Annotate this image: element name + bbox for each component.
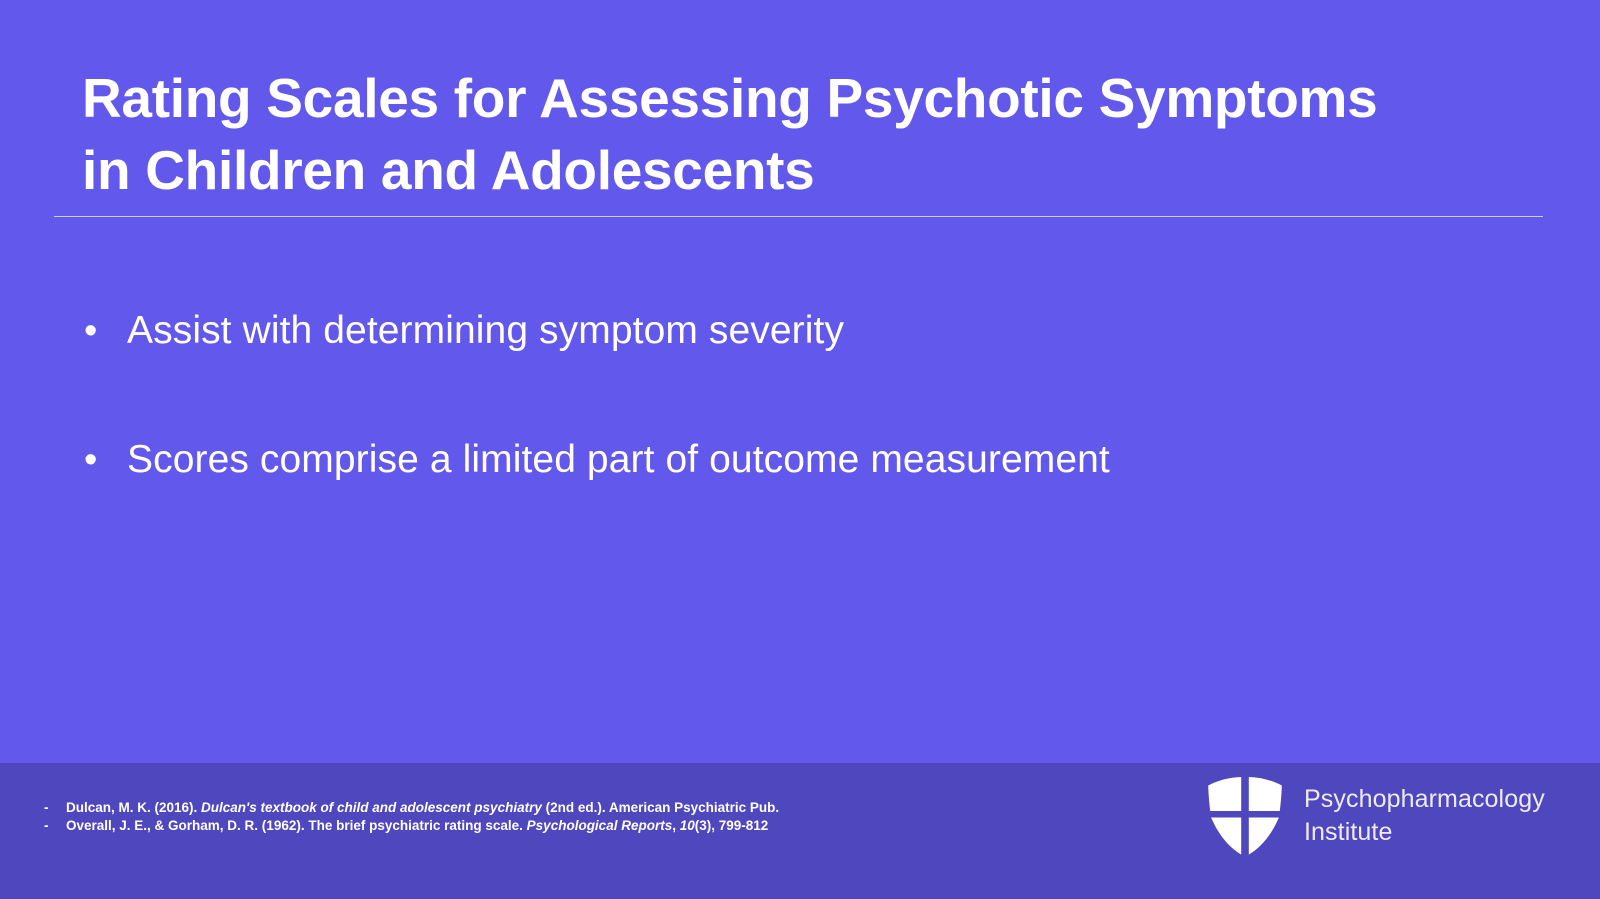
title-line-2: in Children and Adolescents [82,139,814,201]
brand-wordmark-line-1: Psychopharmacology [1304,783,1545,816]
shield-quadrant-logo-icon [1205,775,1285,857]
list-item: • Scores comprise a limited part of outc… [80,429,1480,491]
brand-logo: Psychopharmacology Institute [1205,775,1545,857]
title-divider [54,216,1543,217]
list-item: • Assist with determining symptom severi… [80,300,1480,362]
bullet-text: Assist with determining symptom severity [127,300,1480,362]
bullet-text: Scores comprise a limited part of outcom… [127,429,1480,491]
footer-band: - Dulcan, M. K. (2016). Dulcan's textboo… [0,763,1600,899]
bullet-list: • Assist with determining symptom severi… [80,300,1480,558]
citation-marker-icon: - [44,817,66,835]
brand-wordmark: Psychopharmacology Institute [1304,783,1545,849]
citation-item: - Overall, J. E., & Gorham, D. R. (1962)… [44,817,924,835]
page-title: Rating Scales for Assessing Psychotic Sy… [82,62,1382,206]
citation-list: - Dulcan, M. K. (2016). Dulcan's textboo… [44,799,924,835]
title-block: Rating Scales for Assessing Psychotic Sy… [82,62,1382,206]
citation-text: Dulcan, M. K. (2016). Dulcan's textbook … [66,799,779,817]
presentation-slide: Rating Scales for Assessing Psychotic Sy… [0,0,1600,899]
citation-text: Overall, J. E., & Gorham, D. R. (1962). … [66,817,768,835]
bullet-marker-icon: • [80,300,127,362]
citation-item: - Dulcan, M. K. (2016). Dulcan's textboo… [44,799,924,817]
citation-marker-icon: - [44,799,66,817]
brand-wordmark-line-2: Institute [1304,816,1545,849]
bullet-marker-icon: • [80,429,127,491]
title-line-1: Rating Scales for Assessing Psychotic Sy… [82,67,1377,129]
